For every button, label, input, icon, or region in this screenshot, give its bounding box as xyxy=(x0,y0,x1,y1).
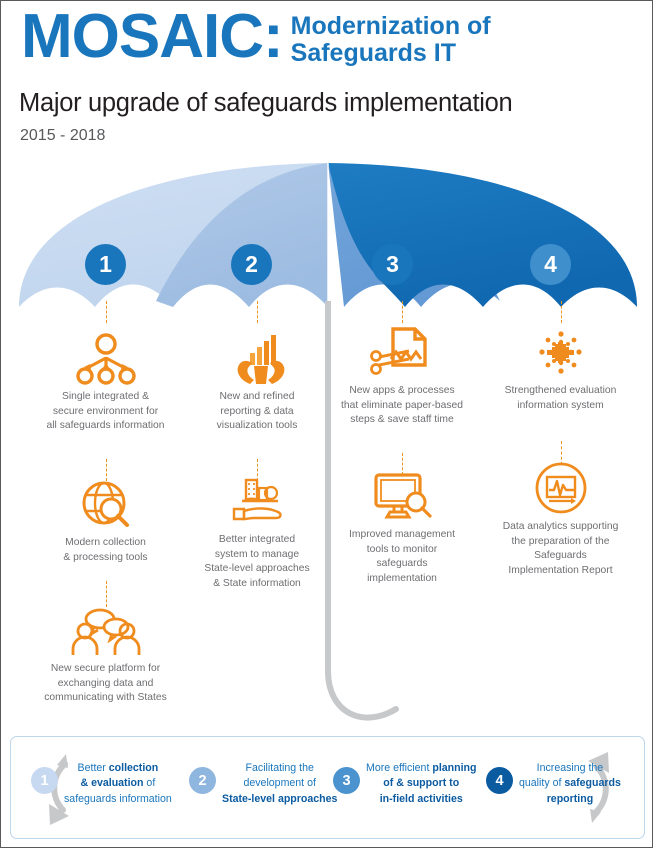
feature-caption: New and refinedreporting & datavisualiza… xyxy=(186,390,328,434)
people-chat-icon xyxy=(23,603,188,659)
monitor-magnifier-icon xyxy=(327,469,477,525)
feature-caption: Modern collection& processing tools xyxy=(23,536,188,565)
network-hierarchy-icon xyxy=(23,331,188,387)
outcome-text-2: Facilitating the development of State-le… xyxy=(222,754,337,807)
feature-caption: Strengthened evaluationinformation syste… xyxy=(478,384,643,413)
content-columns: Single integrated &secure environment fo… xyxy=(1,319,653,719)
umbrella-number-1: 1 xyxy=(85,244,126,285)
infographic-poster: MOSAIC: Modernization of Safeguards IT M… xyxy=(0,0,653,848)
feature-item: Single integrated &secure environment fo… xyxy=(23,331,188,434)
feature-item: Improved managementtools to monitorsafeg… xyxy=(327,469,477,586)
brand-subtitle-line2: Safeguards IT xyxy=(291,40,491,67)
analytics-circle-icon xyxy=(478,461,643,517)
page-tagline: Major upgrade of safeguards implementati… xyxy=(19,89,512,118)
feature-item: New secure platform forexchanging data a… xyxy=(23,603,188,706)
outcome-text-1: Better collection & evaluation of safegu… xyxy=(64,754,172,807)
dashed-connector xyxy=(257,301,258,323)
umbrella-number-4: 4 xyxy=(530,244,571,285)
outcome-text-3: More efficient planning of & support to … xyxy=(366,754,476,807)
feature-item: New and refinedreporting & datavisualiza… xyxy=(186,331,328,434)
feature-caption: New apps & processesthat eliminate paper… xyxy=(327,384,477,428)
feature-item: Data analytics supportingthe preparation… xyxy=(478,461,643,578)
outcome-number-4: 4 xyxy=(486,767,513,794)
umbrella-number-2: 2 xyxy=(231,244,272,285)
hand-facility-icon xyxy=(186,474,328,530)
feature-item: New apps & processesthat eliminate paper… xyxy=(327,325,477,428)
feature-caption: Better integratedsystem to manageState-l… xyxy=(186,533,328,591)
outcome-number-2: 2 xyxy=(189,767,216,794)
outcome-text-4: Increasing the quality of safeguards rep… xyxy=(519,754,621,807)
umbrella-number-3: 3 xyxy=(372,244,413,285)
outcome-number-3: 3 xyxy=(333,767,360,794)
feature-item: Better integratedsystem to manageState-l… xyxy=(186,474,328,591)
dashed-connector xyxy=(561,301,562,323)
feature-item: Strengthened evaluationinformation syste… xyxy=(478,325,643,413)
date-range: 2015 - 2018 xyxy=(20,127,105,145)
brand-subtitle-line1: Modernization of xyxy=(291,13,491,40)
globe-magnifier-icon xyxy=(23,477,188,533)
brand-title: MOSAIC: xyxy=(21,7,283,68)
brand-subtitle: Modernization of Safeguards IT xyxy=(291,13,491,67)
dashed-connector xyxy=(106,301,107,323)
feature-caption: Improved managementtools to monitorsafeg… xyxy=(327,528,477,586)
umbrella-canopy xyxy=(1,159,653,324)
outcome-item-1: 1 Better collection & evaluation of safe… xyxy=(31,754,195,807)
feature-caption: New secure platform forexchanging data a… xyxy=(23,662,188,706)
outcomes-footer: 1 Better collection & evaluation of safe… xyxy=(10,736,645,839)
feature-item: Modern collection& processing tools xyxy=(23,477,188,565)
scissors-paper-icon xyxy=(327,325,477,381)
outcome-item-4: 4 Increasing the quality of safeguards r… xyxy=(486,754,631,807)
outcome-number-1: 1 xyxy=(31,767,58,794)
outcome-item-2: 2 Facilitating the development of State-… xyxy=(189,754,341,807)
dot-burst-icon xyxy=(478,325,643,381)
feature-caption: Single integrated &secure environment fo… xyxy=(23,390,188,434)
hands-bar-chart-icon xyxy=(186,331,328,387)
outcome-item-3: 3 More efficient planning of & support t… xyxy=(333,754,493,807)
title-row: MOSAIC: Modernization of Safeguards IT xyxy=(21,7,491,68)
dashed-connector xyxy=(402,301,403,323)
header: MOSAIC: Modernization of Safeguards IT M… xyxy=(1,1,653,161)
feature-caption: Data analytics supportingthe preparation… xyxy=(478,520,643,578)
